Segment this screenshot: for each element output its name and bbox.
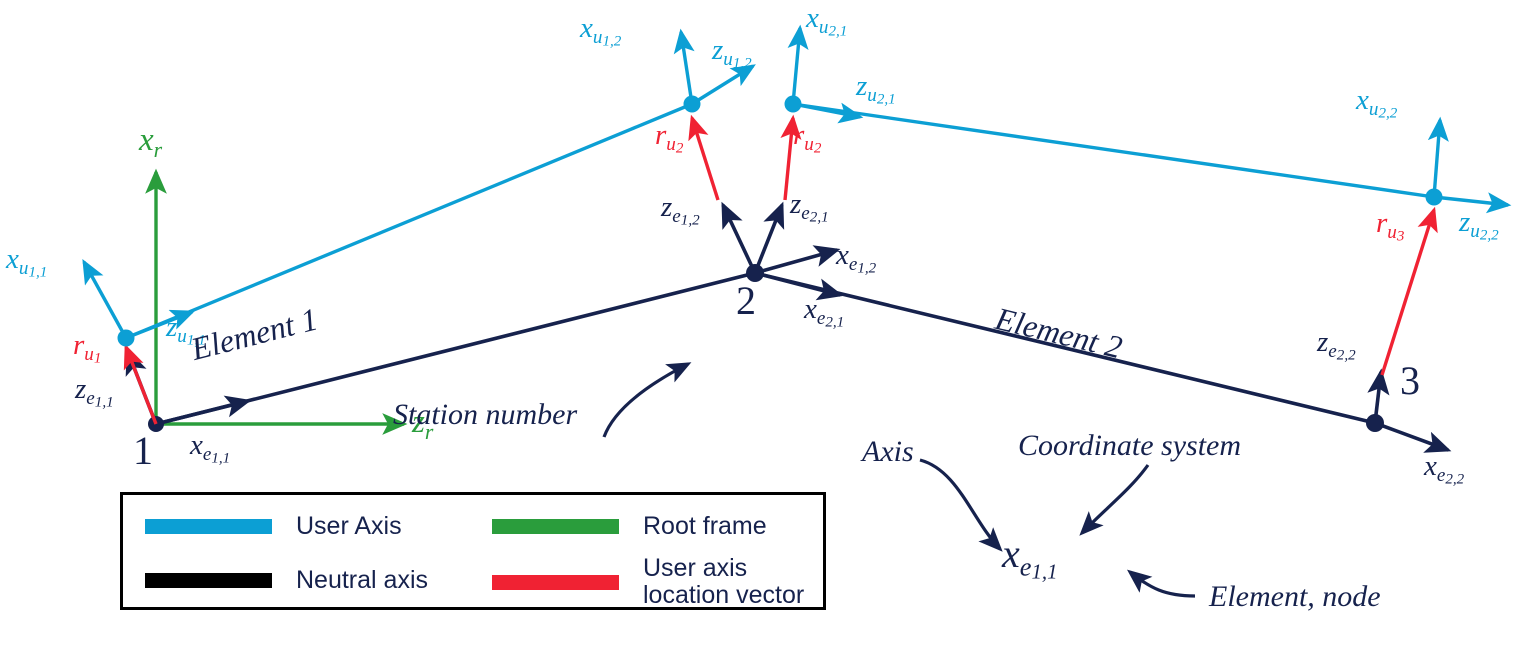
axis-x-u-1-2	[681, 32, 692, 104]
axis-z-u-1-2	[692, 66, 753, 104]
legend-label-user-axis-location-vector: User axis location vector	[643, 555, 804, 609]
label-x-e-2-1: xe2,1	[804, 295, 844, 330]
axis-x-e-1-1	[156, 401, 248, 424]
axis-z-e-2-1	[755, 205, 782, 273]
legend-swatch-neutral-axis	[145, 573, 272, 588]
label-r-u-3: ru3	[1376, 209, 1404, 244]
user-node-1-dot	[118, 330, 135, 347]
axis-z-u-2-2	[1434, 197, 1508, 205]
annotation-coordinate-system: Coordinate system	[1018, 431, 1241, 461]
label-z-e-2-2: ze2,2	[1317, 328, 1356, 363]
axis-x-e-2-2	[1375, 423, 1448, 450]
user-axis-element-2	[793, 104, 1434, 197]
diagram-canvas: xr zr xu1,1 zu1,1 xu1,2 zu1,2 xu2,1 zu2,…	[0, 0, 1524, 648]
label-z-e-2-1: ze2,1	[790, 190, 829, 225]
user-node-2-right-dot	[785, 96, 802, 113]
legend-swatch-user-axis	[145, 519, 272, 534]
root-frame-axes	[156, 172, 404, 424]
user-axis-element-1	[126, 104, 692, 338]
node-1-element-frame	[128, 352, 248, 432]
label-z-u-1-2: zu1,2	[712, 36, 752, 71]
user-axis-lines	[126, 104, 1434, 338]
label-x-r: xr	[139, 124, 162, 162]
axis-x-e-1-2	[755, 250, 837, 273]
label-r-u-2-right: ru2	[793, 121, 821, 156]
station-number-3: 3	[1400, 361, 1420, 401]
station-number-2: 2	[736, 281, 756, 321]
axis-x-e-2-1	[755, 273, 840, 295]
annotation-callout-symbol: xe1,1	[1002, 534, 1057, 583]
element-node-leader	[1130, 572, 1195, 596]
label-x-e-1-2: xe1,2	[836, 241, 876, 276]
user-node-3-dot	[1426, 189, 1443, 206]
legend-item-user-axis: User Axis	[145, 513, 402, 540]
label-z-e-1-1: ze1,1	[75, 375, 114, 410]
legend-label-user-axis: User Axis	[296, 513, 402, 540]
station-number-leader	[604, 364, 688, 437]
station-node-3-dot	[1366, 414, 1384, 432]
coordinate-system-leader	[1082, 465, 1148, 533]
legend-item-user-axis-location-vector: User axis location vector	[492, 555, 804, 609]
axis-z-u-2-1	[793, 104, 860, 117]
node-2-user-frame-right	[785, 28, 861, 117]
node-3-user-frame	[1426, 120, 1509, 206]
axis-z-e-1-2	[723, 205, 755, 273]
legend-swatch-root-frame	[492, 519, 619, 534]
label-x-u-1-1: xu1,1	[6, 245, 47, 280]
annotation-element-node: Element, node	[1209, 582, 1381, 612]
label-x-u-2-2: xu2,2	[1356, 86, 1397, 121]
vector-r-u-2-left	[692, 118, 718, 200]
label-z-u-2-1: zu2,1	[856, 72, 896, 107]
legend-item-neutral-axis: Neutral axis	[145, 567, 428, 594]
axis-x-u-1-1	[84, 262, 126, 338]
label-z-e-1-2: ze1,2	[661, 193, 700, 228]
label-r-u-1: ru1	[73, 331, 101, 366]
label-x-e-1-1: xe1,1	[190, 431, 230, 466]
label-r-u-2-left: ru2	[655, 121, 683, 156]
vector-r-u-1	[126, 347, 156, 424]
axis-x-u-2-1	[793, 28, 800, 104]
axis-leader	[920, 460, 1000, 549]
axis-x-u-2-2	[1434, 120, 1440, 197]
legend-label-neutral-axis: Neutral axis	[296, 567, 428, 594]
annotation-station-number: Station number	[393, 400, 577, 430]
label-z-u-2-2: zu2,2	[1459, 208, 1499, 243]
label-x-u-2-1: xu2,1	[806, 4, 847, 39]
station-number-1: 1	[133, 431, 153, 471]
legend-label-root-frame: Root frame	[643, 513, 767, 540]
neutral-axis-lines	[156, 273, 1375, 424]
label-x-e-2-2: xe2,2	[1424, 452, 1464, 487]
legend-swatch-user-axis-location-vector	[492, 575, 619, 590]
legend-box: User Axis Neutral axis Root frame User a…	[120, 492, 826, 610]
user-node-2-left-dot	[684, 96, 701, 113]
label-x-u-1-2: xu1,2	[580, 14, 621, 49]
annotation-axis: Axis	[862, 437, 914, 467]
legend-item-root-frame: Root frame	[492, 513, 767, 540]
